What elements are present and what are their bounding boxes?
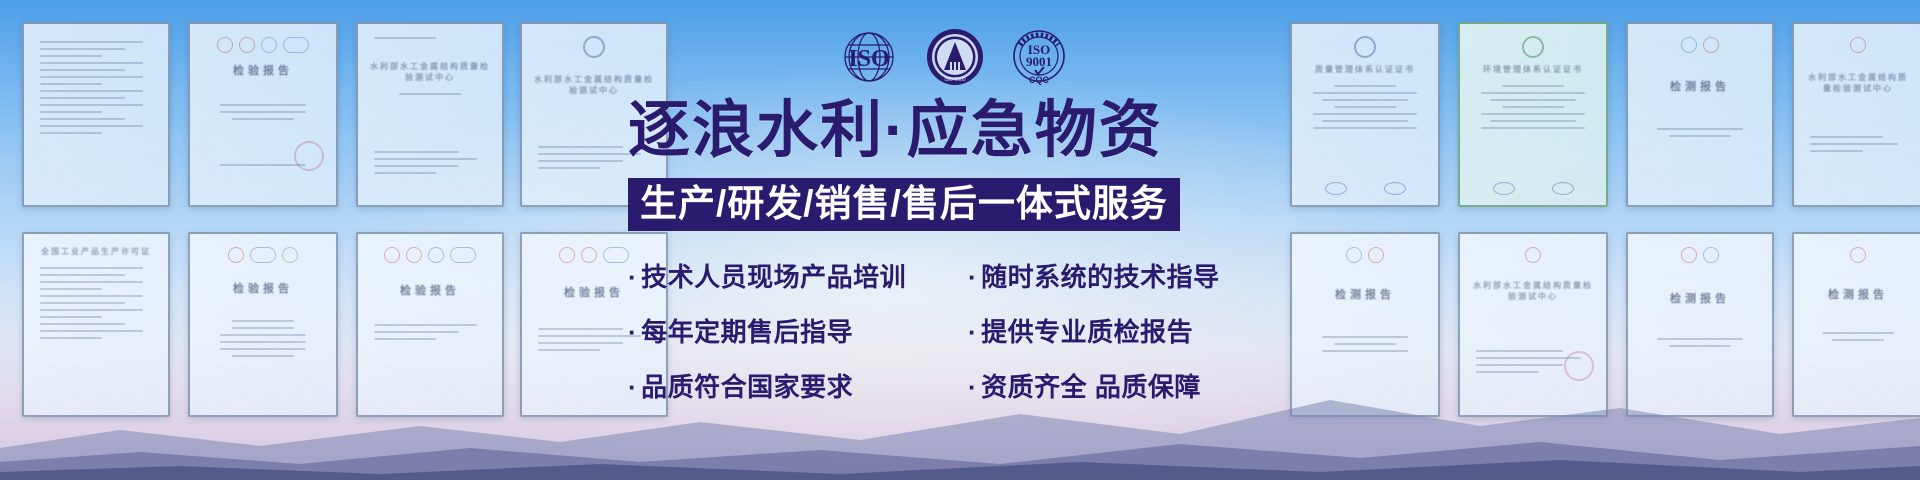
feature-item: · 提供专业质检报告 [968, 312, 1328, 349]
certificate-thumb: 水利部水工金属结构质量检验测试中心 [1458, 232, 1608, 417]
feature-item-label: 随时系统的技术指导 [981, 257, 1220, 294]
iso-9001-cqc-badge-icon: ISO 9001 CQC [1010, 29, 1068, 85]
iso-globe-badge-label: ISO [848, 46, 889, 72]
feature-item-label: 品质符合国家要求 [641, 367, 853, 404]
certificate-title: 检验报告 [200, 280, 326, 296]
certificate-thumb: 全国工业产品生产许可证 [22, 232, 170, 417]
promo-banner: 检验报告 水利部水工金属结构质量检验测试中心 水利部水工金属结构质量检验测试中心 [0, 0, 1920, 480]
iso-badge-group: ISO ISO 9000 ISO 9001 CQC [838, 28, 1068, 86]
certificate-thumb: 环境管理体系认证证书 [1458, 22, 1608, 207]
feature-item: · 随时系统的技术指导 [968, 257, 1328, 294]
certificate-title: 水利部水工金属结构质量检验测试中心 [1804, 72, 1912, 94]
feature-item-label: 资质齐全 品质保障 [981, 367, 1201, 404]
certificate-thumb: 检验报告 [188, 232, 338, 417]
iso-9000-seal-badge-label: ISO 9000 [944, 77, 965, 83]
feature-list: · 技术人员现场产品培训 · 随时系统的技术指导 · 每年定期售后指导 · 提供… [628, 257, 1328, 404]
page-title: 逐浪水利·应急物资 [628, 100, 1328, 162]
certificate-title: 全国工业产品生产许可证 [34, 246, 158, 257]
feature-item: · 品质符合国家要求 [628, 367, 968, 404]
certificate-title: 检验报告 [200, 62, 326, 78]
feature-item: · 每年定期售后指导 [628, 312, 968, 349]
certificate-title: 环境管理体系认证证书 [1470, 64, 1596, 75]
certificate-title: 检测报告 [1804, 286, 1912, 302]
bullet-dot-icon: · [628, 374, 637, 400]
certificate-title: 质量管理体系认证证书 [1302, 64, 1428, 75]
iso-9001-badge-line2: 9001 [1026, 54, 1052, 69]
certificate-thumb: 检验报告 [188, 22, 338, 207]
cqc-badge-label: CQC [1029, 75, 1050, 85]
certificate-title: 检测报告 [1638, 78, 1762, 94]
certificate-thumb: 检验报告 [356, 232, 504, 417]
certificate-title: 水利部水工金属结构质量检验测试中心 [368, 61, 492, 83]
feature-item-label: 每年定期售后指导 [641, 312, 853, 349]
iso-globe-badge-icon: ISO [838, 31, 900, 83]
feature-item: · 技术人员现场产品培训 [628, 257, 968, 294]
certificate-thumb [22, 22, 170, 207]
bullet-dot-icon: · [968, 319, 977, 345]
certificate-thumb: 检测报告 [1626, 22, 1774, 207]
certificate-thumb: 水利部水工金属结构质量检验测试中心 [1792, 22, 1920, 207]
certificate-title: 检测报告 [1638, 290, 1762, 306]
certificate-title: 水利部水工金属结构质量检验测试中心 [532, 74, 656, 96]
certificate-title: 检验报告 [368, 282, 492, 298]
feature-item: · 资质齐全 品质保障 [968, 367, 1328, 404]
feature-item-label: 提供专业质检报告 [981, 312, 1193, 349]
feature-item-label: 技术人员现场产品培训 [641, 257, 906, 294]
hero-text-block: 逐浪水利·应急物资 生产/研发/销售/售后一体式服务 · 技术人员现场产品培训 … [628, 100, 1328, 404]
certificate-thumb: 检测报告 [1626, 232, 1774, 417]
bullet-dot-icon: · [628, 319, 637, 345]
certificate-thumb: 检测报告 [1792, 232, 1920, 417]
service-tagline-bar: 生产/研发/销售/售后一体式服务 [628, 178, 1180, 231]
certificate-thumb: 水利部水工金属结构质量检验测试中心 [356, 22, 504, 207]
bullet-dot-icon: · [968, 264, 977, 290]
iso-9000-seal-badge-icon: ISO 9000 [926, 28, 984, 86]
bullet-dot-icon: · [628, 264, 637, 290]
bullet-dot-icon: · [968, 374, 977, 400]
certificate-title: 水利部水工金属结构质量检验测试中心 [1470, 280, 1596, 302]
